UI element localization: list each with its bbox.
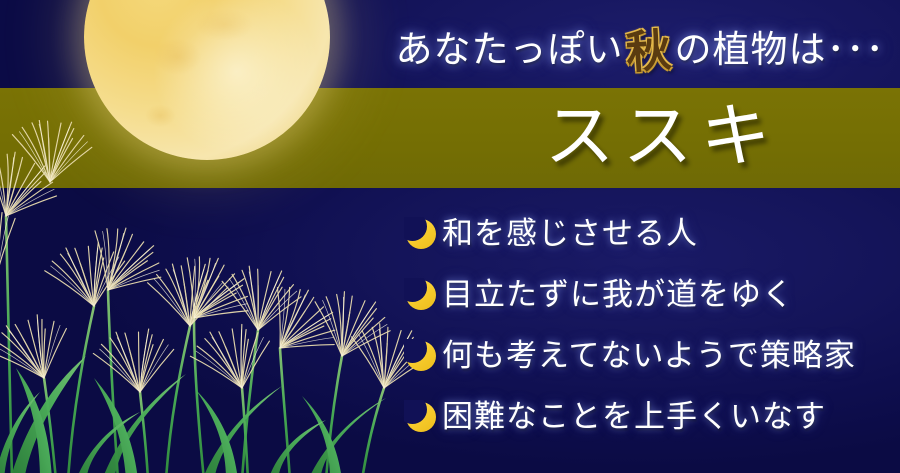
list-item: 何も考えてないようで策略家 bbox=[404, 325, 894, 386]
trait-list: 和を感じさせる人 目立たずに我が道をゆく 何も考えてないようで策略家 困難なこと… bbox=[404, 203, 894, 447]
list-item-label: 和を感じさせる人 bbox=[442, 218, 698, 249]
list-item: 目立たずに我が道をゆく bbox=[404, 264, 894, 325]
header-suffix: の植物は･･･ bbox=[675, 32, 886, 69]
crescent-moon-icon bbox=[404, 217, 438, 251]
list-item: 和を感じさせる人 bbox=[404, 203, 894, 264]
page-title-text: ススキ bbox=[537, 103, 779, 173]
crescent-moon-icon bbox=[404, 339, 438, 373]
list-item: 困難なことを上手くいなす bbox=[404, 386, 894, 447]
crescent-moon-icon bbox=[404, 278, 438, 312]
header-tagline: あなたっぽい 秋 の植物は･･･ bbox=[430, 22, 885, 78]
page-title: ススキ bbox=[430, 92, 885, 184]
list-item-label: 何も考えてないようで策略家 bbox=[442, 340, 856, 371]
crescent-moon-icon bbox=[404, 400, 438, 434]
full-moon-icon bbox=[84, 0, 330, 160]
autumn-plant-poster: あなたっぽい 秋 の植物は･･･ ススキ 和を感じさせる人 目立たずに我が道をゆ… bbox=[0, 0, 900, 473]
header-kanji-aki: 秋 bbox=[625, 28, 673, 76]
list-item-label: 目立たずに我が道をゆく bbox=[442, 279, 794, 310]
moon-rim-glow bbox=[84, 0, 330, 160]
list-item-label: 困難なことを上手くいなす bbox=[442, 401, 826, 432]
header-prefix: あなたっぽい bbox=[395, 32, 623, 69]
